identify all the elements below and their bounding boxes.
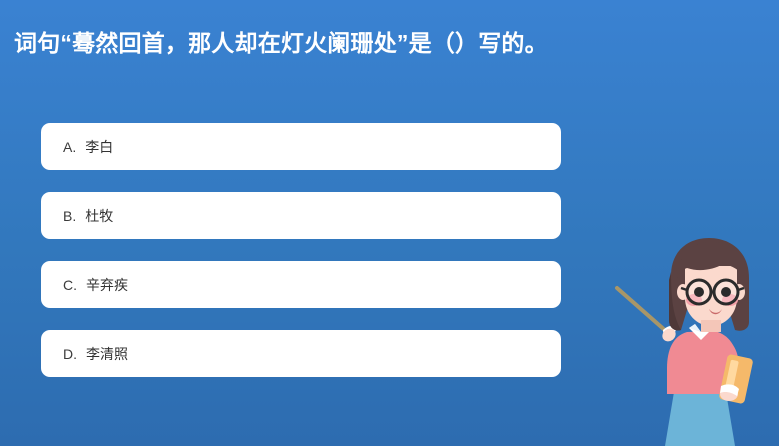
left-ear-shape (677, 284, 689, 300)
option-label-d: 李清照 (86, 347, 128, 361)
right-ear-shape (733, 284, 745, 300)
right-cuff-shape (720, 384, 739, 396)
right-eye-shape (721, 287, 731, 297)
option-card-d[interactable]: D. 李清照 (41, 330, 561, 377)
left-hand-shape (660, 326, 678, 344)
option-label-c: 辛弃疾 (86, 278, 128, 292)
face-shape (685, 266, 737, 326)
collar-left-shape (689, 324, 701, 332)
collar-right-shape (701, 324, 713, 332)
mouth-shape (709, 309, 722, 314)
option-label-b: 杜牧 (85, 209, 113, 223)
option-card-b[interactable]: B. 杜牧 (41, 192, 561, 239)
hair-back-shape (669, 238, 749, 331)
book-icon (719, 354, 754, 404)
left-cuff-shape (663, 326, 677, 340)
option-label-a: 李白 (85, 140, 113, 154)
collar-shape (689, 324, 713, 340)
option-card-a[interactable]: A. 李白 (41, 123, 561, 170)
right-arm-shape (721, 336, 739, 388)
question-text: 词句“蓦然回首，那人却在灯火阑珊处”是（）写的。 (14, 26, 744, 60)
glasses-icon (681, 280, 744, 304)
skirt-shape (665, 386, 735, 446)
sweater-shape (667, 331, 737, 394)
right-hand-shape (720, 387, 738, 401)
option-letter-b: B. (63, 209, 76, 223)
option-letter-c: C. (63, 278, 77, 292)
right-cheek-shape (722, 294, 738, 306)
neck-shape (701, 320, 721, 332)
quiz-question-screen: 词句“蓦然回首，那人却在灯火阑珊处”是（）写的。 A. 李白 B. 杜牧 C. … (0, 0, 779, 446)
hair-side-left-shape (669, 272, 681, 331)
option-letter-a: A. (63, 140, 76, 154)
teacher-illustration-icon (609, 236, 779, 446)
left-arm-shape (669, 334, 705, 368)
left-eye-shape (694, 287, 704, 297)
option-letter-d: D. (63, 347, 77, 361)
pointer-stick-icon (617, 288, 667, 332)
options-list: A. 李白 B. 杜牧 C. 辛弃疾 D. 李清照 (41, 123, 561, 377)
option-card-c[interactable]: C. 辛弃疾 (41, 261, 561, 308)
hair-fringe-shape (677, 242, 747, 280)
left-cheek-shape (686, 294, 702, 306)
